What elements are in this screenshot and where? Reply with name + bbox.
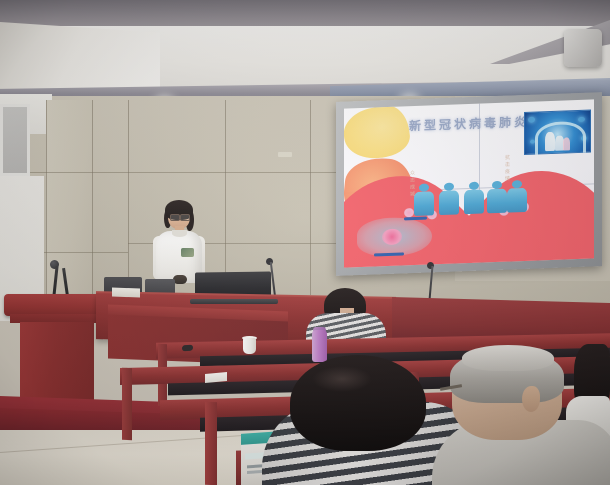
slide-side-text-secondary: 众志成城	[409, 170, 416, 198]
glasses-icon	[170, 214, 180, 221]
shirt-logo	[181, 248, 194, 257]
glasses-icon	[180, 214, 190, 221]
presenter-collar	[172, 230, 187, 237]
panel-seam	[46, 100, 47, 305]
panel-seam	[128, 100, 129, 300]
presenter-hands	[173, 275, 187, 284]
hair-highlight	[312, 366, 372, 392]
wall-speaker	[564, 29, 602, 67]
medic-figure	[414, 191, 434, 216]
medic-figure	[464, 189, 484, 214]
papers-on-table	[112, 288, 140, 298]
china-map-west	[344, 102, 412, 164]
wall-sign	[278, 152, 292, 157]
slide-side-text: 抗击疫情	[504, 155, 511, 183]
slide-title: 新型冠状病毒肺炎	[394, 112, 544, 135]
wall-window	[0, 104, 30, 176]
bench-leg	[205, 402, 217, 485]
white-paper-cup[interactable]	[243, 338, 256, 354]
virus-icon	[578, 117, 585, 122]
loose-papers[interactable]	[205, 372, 227, 383]
inset-figure	[545, 132, 555, 151]
wall-pillar	[46, 100, 92, 305]
bench-leg	[122, 368, 132, 441]
ear	[522, 386, 540, 412]
medic-figure	[507, 188, 527, 213]
medic-figure	[487, 188, 507, 213]
grey-haired-man-hair-top	[462, 345, 554, 371]
ceiling-bevel	[0, 22, 160, 98]
medic-figure-head	[492, 181, 502, 189]
panel-seam	[310, 100, 311, 295]
projection-screen[interactable]: 新型冠状病毒肺炎 抗击疫情 众志成城	[344, 99, 594, 267]
panel-seam	[0, 172, 340, 173]
inset-figure	[563, 137, 571, 151]
purple-thermos[interactable]	[312, 330, 327, 362]
laptop-base	[190, 299, 278, 304]
medic-figure	[439, 190, 459, 215]
panel-seam	[92, 100, 93, 305]
virus-inset-photo	[524, 109, 591, 155]
lecture-hall-photo: 新型冠状病毒肺炎 抗击疫情 众志成城	[0, 0, 610, 485]
lectern-top	[4, 294, 108, 316]
panel-seam	[225, 100, 226, 295]
medic-figure-head	[512, 180, 522, 188]
small-object-on-bench	[182, 345, 193, 352]
virus-icon	[528, 117, 535, 123]
